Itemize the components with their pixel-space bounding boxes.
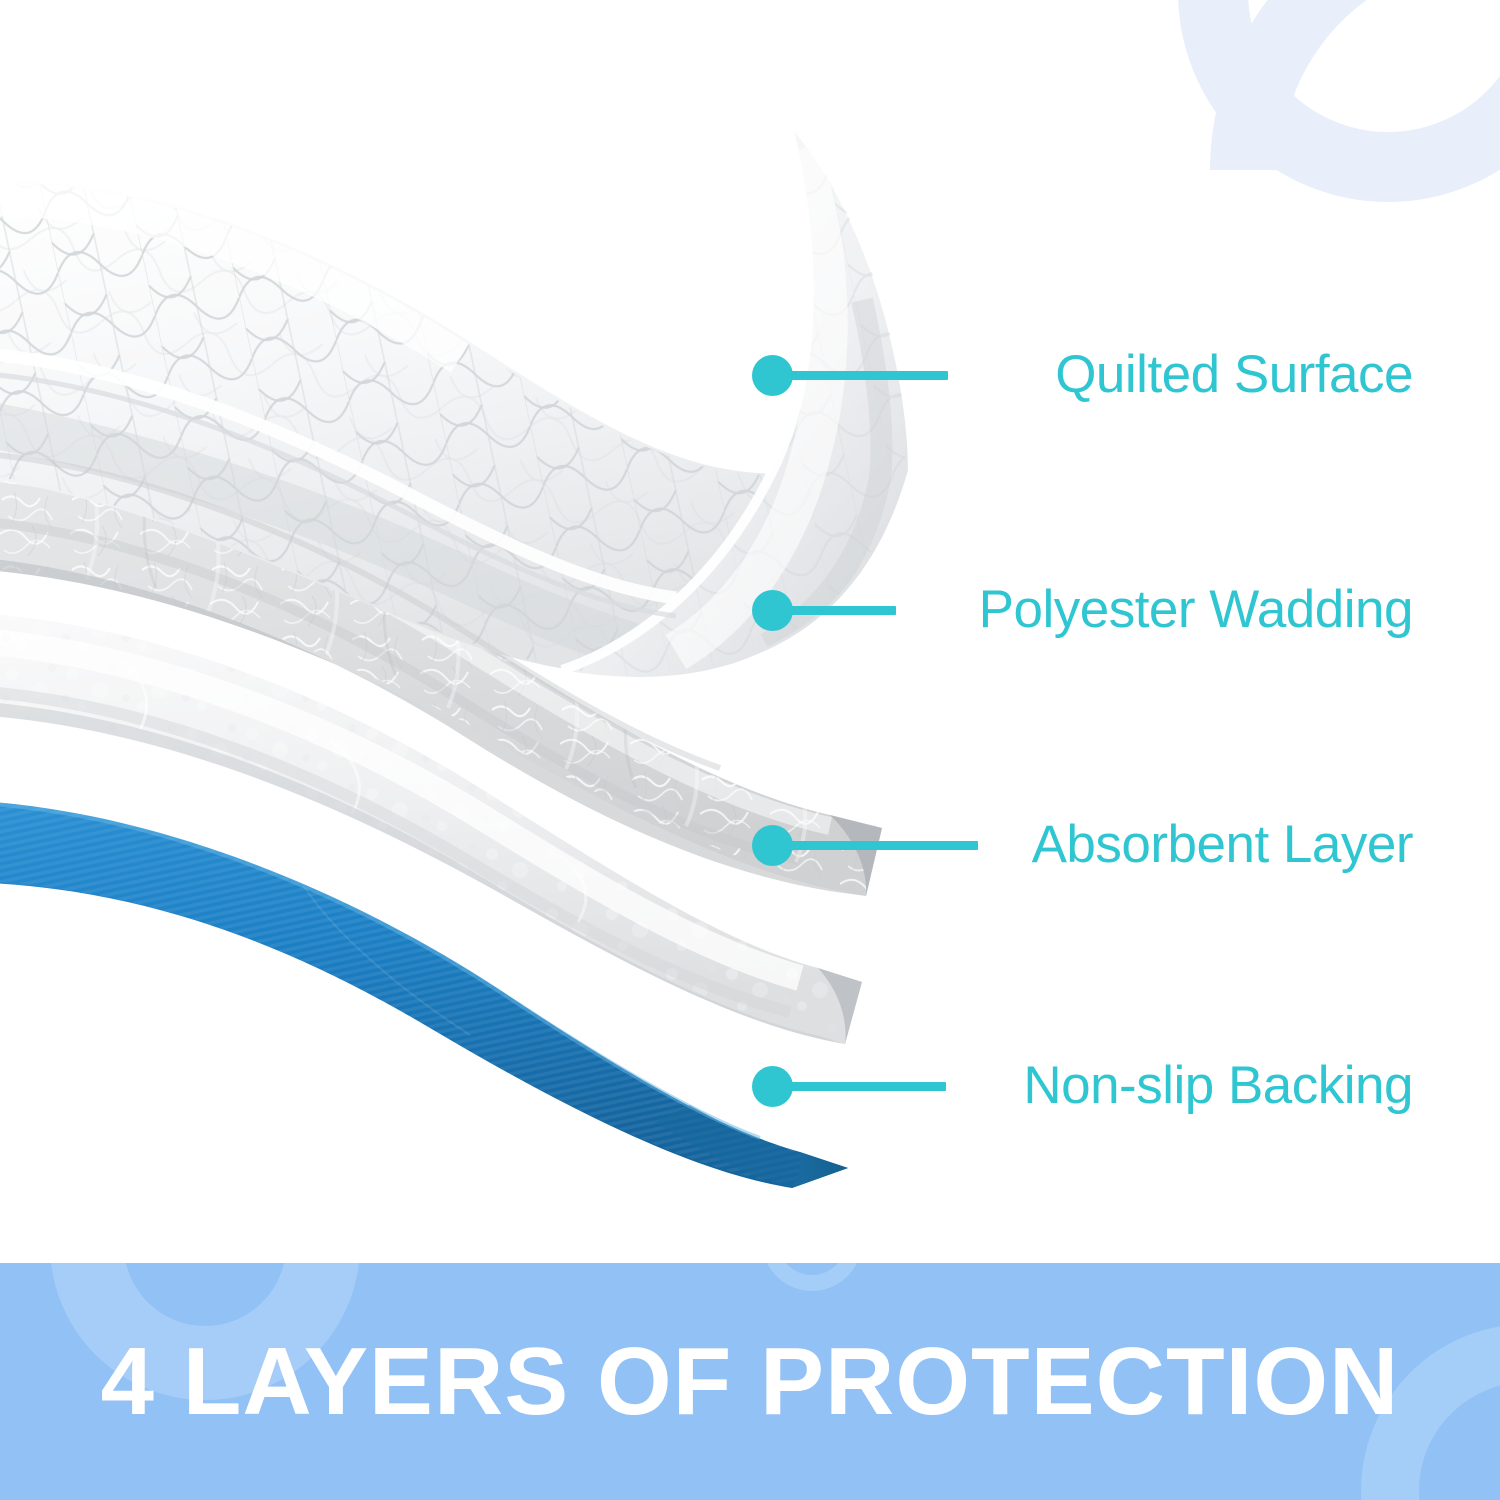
callout-label-absorbent-layer: Absorbent Layer	[793, 805, 1413, 885]
callout-polyester-wadding[interactable]: Polyester Wadding	[0, 570, 1500, 650]
callout-label-quilted-surface: Quilted Surface	[793, 335, 1413, 415]
bottom-banner: 4 LAYERS OF PROTECTION	[0, 1263, 1500, 1500]
infographic-page: Quilted Surface Polyester Wadding Absorb…	[0, 0, 1500, 1500]
callout-quilted-surface[interactable]: Quilted Surface	[0, 335, 1500, 415]
corner-ring-decoration	[1140, 0, 1500, 300]
callout-label-polyester-wadding: Polyester Wadding	[793, 570, 1413, 650]
callout-absorbent-layer[interactable]: Absorbent Layer	[0, 805, 1500, 885]
callout-non-slip-backing[interactable]: Non-slip Backing	[0, 1046, 1500, 1126]
banner-title: 4 LAYERS OF PROTECTION	[0, 1263, 1500, 1500]
callout-label-non-slip-backing: Non-slip Backing	[793, 1046, 1413, 1126]
